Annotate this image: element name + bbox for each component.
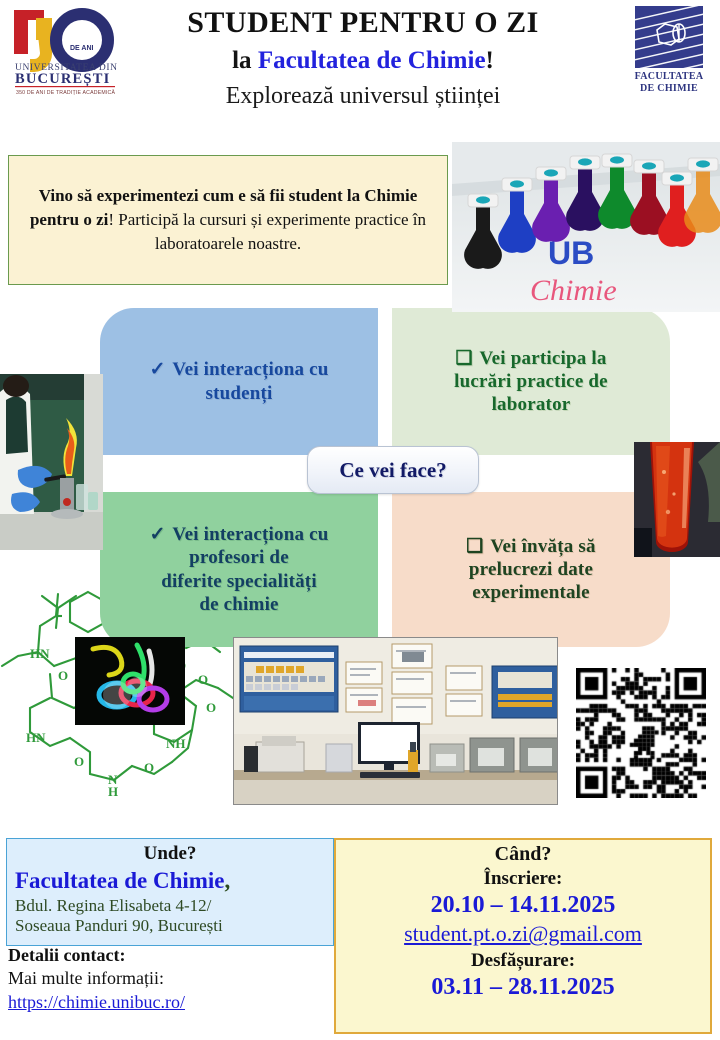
checkmark-icon: ✓: [149, 524, 165, 545]
feature-box-lab-practice: ❑Vei participa la lucrări practice de la…: [392, 308, 670, 455]
title-sub-suffix: !: [486, 47, 494, 74]
where-info-box: Unde? Facultatea de Chimie, Bdul. Regina…: [6, 838, 334, 946]
photo-flasks-ub-chimie: UB Chimie: [452, 142, 720, 312]
where-faculty: Facultatea de Chimie,: [15, 867, 325, 896]
where-faculty-comma: ,: [225, 868, 231, 893]
feature-line: diferite specialități: [149, 570, 328, 593]
where-address-line1: Bdul. Regina Elisabeta 4-12/: [15, 896, 325, 917]
svg-text:350 DE ANI DE TRADIȚIE ACADEMI: 350 DE ANI DE TRADIȚIE ACADEMICĂ: [16, 89, 115, 96]
feature-line: Vei învăța să: [490, 536, 595, 557]
intro-rest: ! Participă la cursuri și experimente pr…: [108, 210, 426, 253]
svg-text:DE ANI: DE ANI: [70, 45, 94, 52]
photo-flame-test: [0, 374, 103, 550]
contact-details: Detalii contact: Mai multe informații: h…: [8, 944, 328, 1014]
feature-line: Vei interacționa cu: [172, 359, 328, 380]
chemistry-logo-line1: FACULTATEA: [626, 71, 712, 83]
title-tagline: Explorează universul științei: [128, 81, 598, 112]
page-title: STUDENT PENTRU O ZI: [128, 6, 598, 41]
svg-text:O: O: [206, 700, 216, 715]
title-block: STUDENT PENTRU O ZI la Facultatea de Chi…: [128, 6, 598, 112]
email-link[interactable]: student.pt.o.zi@gmail.com: [342, 920, 704, 949]
svg-text:O: O: [198, 672, 208, 687]
title-subtitle: la Facultatea de Chimie!: [128, 45, 598, 76]
svg-text:O: O: [144, 760, 154, 775]
svg-text:BUCUREȘTI: BUCUREȘTI: [15, 71, 110, 87]
svg-text:O: O: [74, 754, 84, 769]
feature-content: ✓Vei interacționa cu studenți: [149, 358, 328, 404]
feature-line: lucrări practice de: [454, 370, 608, 393]
svg-text:NH: NH: [166, 736, 186, 751]
intro-text-box: Vino să experimentezi cum e să fii stude…: [8, 155, 448, 285]
when-title: Când?: [342, 843, 704, 867]
chemistry-logo-caption: FACULTATEA DE CHIMIE: [626, 71, 712, 94]
ub-160-logo: DE ANI UNIVERSITATEA DIN BUCUREȘTI 350 D…: [6, 4, 124, 96]
feature-line: de chimie: [149, 593, 328, 616]
when-info-box: Când? Înscriere: 20.10 – 14.11.2025 stud…: [334, 838, 712, 1034]
where-address-line2: Soseaua Panduri 90, București: [15, 916, 325, 937]
center-question-label: Ce vei face?: [307, 446, 479, 494]
feature-box-interact-professors: ✓Vei interacționa cu profesori de diferi…: [100, 492, 378, 647]
svg-text:O: O: [58, 668, 68, 683]
chemistry-logo-mark: [635, 6, 703, 68]
square-bullet-icon: ❑: [466, 536, 483, 557]
intro-paragraph: Vino să experimentezi cum e să fii stude…: [23, 184, 433, 256]
feature-content: ❑Vei învăța să prelucrezi date experimen…: [466, 535, 595, 605]
feature-line: profesori de: [149, 546, 328, 569]
checkmark-icon: ✓: [149, 359, 165, 380]
photo-laboratory-room: [233, 637, 558, 805]
feature-box-process-data: ❑Vei învăța să prelucrezi date experimen…: [392, 492, 670, 647]
photo-red-test-tube: [634, 442, 720, 557]
qr-code[interactable]: [576, 668, 706, 798]
contact-title: Detalii contact:: [8, 944, 328, 967]
svg-text:HN: HN: [30, 646, 50, 661]
registration-dates: 20.10 – 14.11.2025: [342, 890, 704, 921]
title-sub-prefix: la: [232, 47, 258, 74]
poster-canvas: DE ANI UNIVERSITATEA DIN BUCUREȘTI 350 D…: [0, 0, 720, 1040]
where-faculty-name: Facultatea de Chimie: [15, 868, 225, 893]
website-link[interactable]: https://chimie.unibuc.ro/: [8, 991, 185, 1014]
feature-line: Vei participa la: [479, 348, 606, 369]
title-sub-highlight: Facultatea de Chimie: [258, 47, 486, 74]
feature-content: ❑Vei participa la lucrări practice de la…: [454, 347, 608, 417]
registration-label: Înscriere:: [342, 867, 704, 890]
where-title: Unde?: [15, 843, 325, 866]
feature-box-interact-students: ✓Vei interacționa cu studenți: [100, 308, 378, 455]
feature-content: ✓Vei interacționa cu profesori de diferi…: [149, 523, 328, 616]
feature-line: Vei interacționa cu: [172, 524, 328, 545]
faculty-of-chemistry-logo: FACULTATEA DE CHIMIE: [626, 6, 712, 94]
feature-line: experimentale: [466, 581, 595, 604]
photo-caption-chimie: Chimie: [530, 274, 617, 307]
feature-line: prelucrezi date: [466, 558, 595, 581]
event-period-dates: 03.11 – 28.11.2025: [342, 972, 704, 1003]
square-bullet-icon: ❑: [455, 348, 472, 369]
svg-text:H: H: [108, 784, 118, 799]
poster-header: DE ANI UNIVERSITATEA DIN BUCUREȘTI 350 D…: [0, 0, 720, 148]
feature-line: studenți: [149, 382, 328, 405]
svg-text:HN: HN: [26, 730, 46, 745]
contact-more-info: Mai multe informații:: [8, 967, 328, 990]
photo-glow-sticks: [75, 637, 185, 725]
event-period-label: Desfășurare:: [342, 949, 704, 972]
photo-caption-ub: UB: [548, 235, 594, 271]
center-question-text: Ce vei face?: [339, 458, 446, 483]
feature-line: laborator: [454, 393, 608, 416]
chemistry-logo-line2: DE CHIMIE: [626, 83, 712, 95]
